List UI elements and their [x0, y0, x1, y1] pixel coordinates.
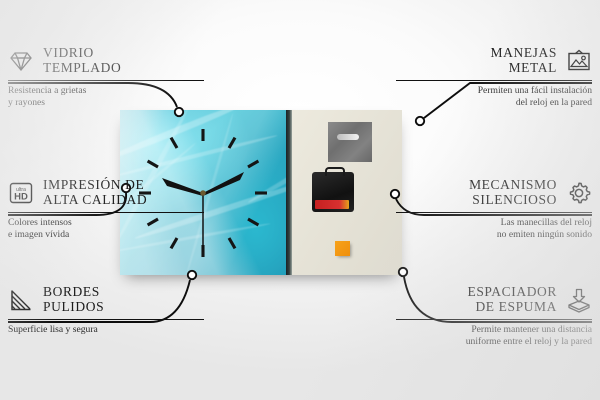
- clock-mechanism-box: [312, 172, 354, 212]
- feature-subtitle: Colores intensos e imagen vívida: [8, 217, 204, 240]
- feature-subtitle: Las manecillas del reloj no emiten ningú…: [396, 217, 592, 240]
- gear-icon: [566, 180, 592, 206]
- feature-rule: [396, 80, 592, 81]
- feature-subtitle: Resistencia a grietas y rayones: [8, 85, 204, 108]
- feature-vidrio-templado: VIDRIO TEMPLADO Resistencia a grietas y …: [8, 46, 204, 109]
- feature-title: BORDES PULIDOS: [43, 285, 104, 314]
- feature-mecanismo-silencioso: MECANISMO SILENCIOSO Las manecillas del …: [396, 178, 592, 241]
- feature-espaciador-espuma: ESPACIADOR DE ESPUMA Permite mantener un…: [396, 285, 592, 348]
- foam-spacer-pad: [335, 241, 350, 256]
- metal-hanger-plate: [328, 122, 372, 162]
- feature-rule: [8, 80, 204, 81]
- feature-subtitle: Permiten una fácil instalación del reloj…: [396, 85, 592, 108]
- polished-edge-icon: [8, 287, 34, 313]
- wire-dot-manejas: [416, 117, 424, 125]
- ultra-hd-icon: ultra HD: [8, 180, 34, 206]
- diamond-icon: [8, 48, 34, 74]
- feature-title: VIDRIO TEMPLADO: [43, 46, 121, 75]
- feature-impresion-alta-calidad: ultra HD IMPRESIÓN DE ALTA CALIDAD Color…: [8, 178, 204, 241]
- clock-back-panel: [292, 110, 402, 275]
- feature-title: MANEJAS METAL: [491, 46, 557, 75]
- mechanism-hook: [325, 167, 345, 176]
- infographic-canvas: VIDRIO TEMPLADO Resistencia a grietas y …: [0, 0, 600, 400]
- feature-rule: [8, 319, 204, 320]
- feature-title: MECANISMO SILENCIOSO: [469, 178, 557, 207]
- foam-spacer-icon: [566, 287, 592, 313]
- feature-subtitle: Superficie lisa y segura: [8, 324, 204, 336]
- battery: [315, 200, 349, 209]
- feature-title: IMPRESIÓN DE ALTA CALIDAD: [43, 178, 147, 207]
- feature-bordes-pulidos: BORDES PULIDOS Superficie lisa y segura: [8, 285, 204, 336]
- feature-rule: [396, 212, 592, 213]
- feature-manejas-metal: MANEJAS METAL Permiten una fácil instala…: [396, 46, 592, 109]
- picture-hanger-icon: [566, 48, 592, 74]
- hanger-slot: [337, 134, 359, 140]
- feature-title: ESPACIADOR DE ESPUMA: [467, 285, 557, 314]
- feature-rule: [396, 319, 592, 320]
- feature-rule: [8, 212, 204, 213]
- feature-subtitle: Permite mantener una distancia uniforme …: [396, 324, 592, 347]
- svg-text:HD: HD: [14, 191, 28, 202]
